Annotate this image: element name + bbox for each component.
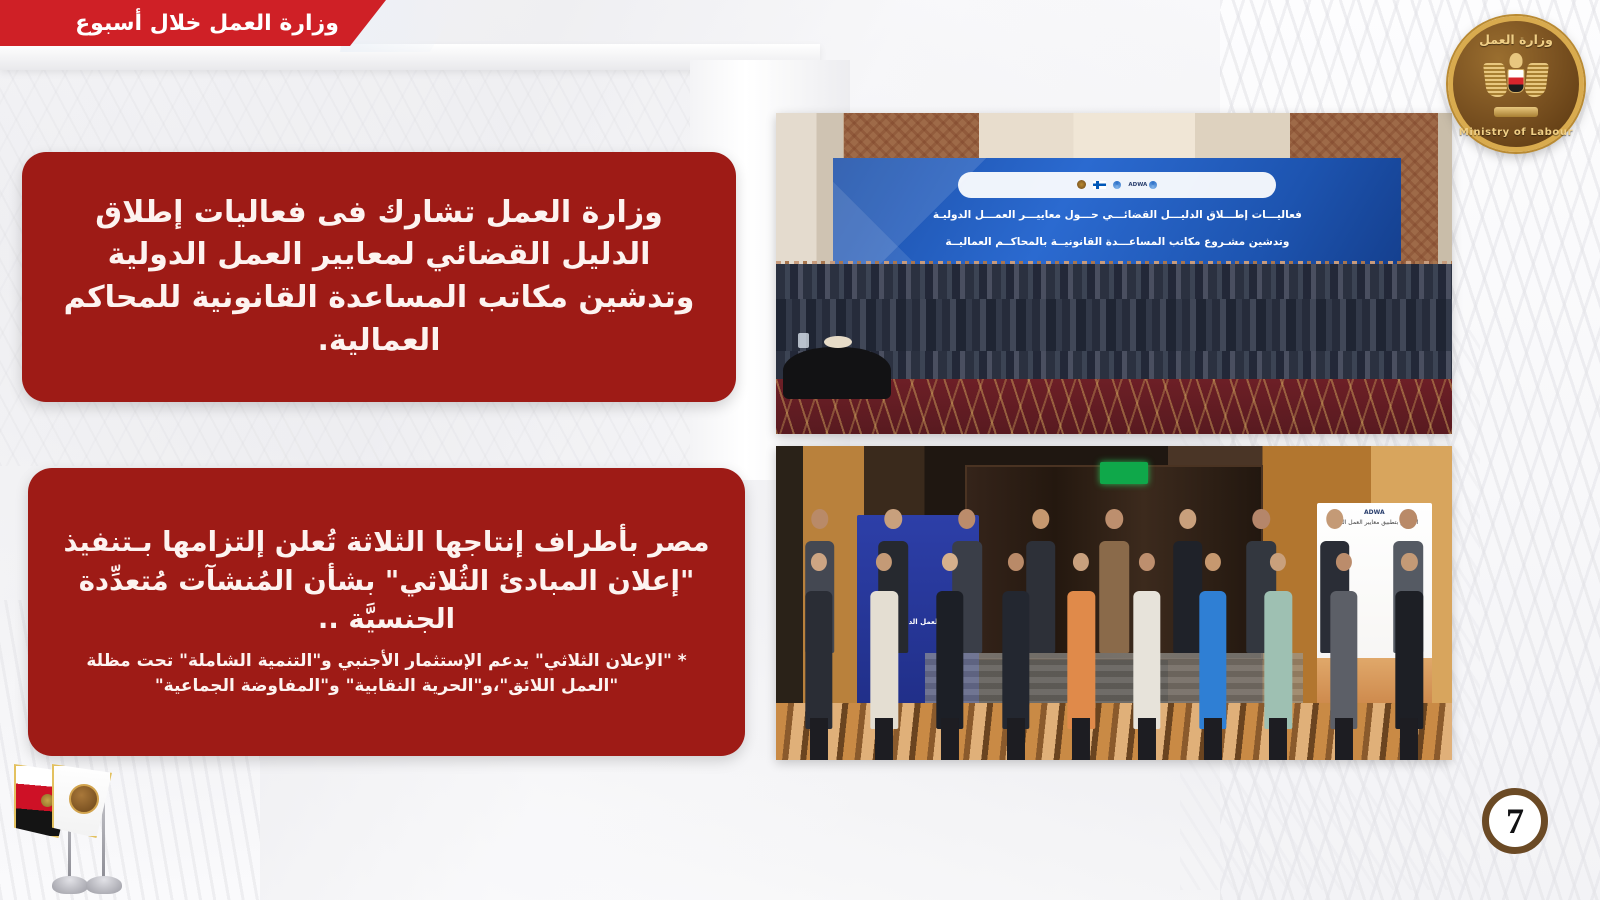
seal-arabic-text: وزارة العمل: [1453, 32, 1579, 47]
person-figure: [869, 553, 900, 729]
finland-flag-icon: [1093, 181, 1106, 189]
secondary-headline-card: مصر بأطراف إنتاجها الثلاثة تُعلن إلتزامه…: [28, 468, 745, 756]
photo-delegation-group: منظمة العمل الدولية ADWA النهوض بتطبيق م…: [776, 446, 1452, 760]
eagle-of-saladin-icon: [1485, 53, 1547, 115]
header-banner: وزارة العمل خلال أسبوع: [0, 0, 386, 46]
ilo-logo-icon: [1113, 181, 1121, 189]
eagle-shield-flag: [1508, 69, 1525, 93]
ministry-seal-logo: وزارة العمل Ministry of Labour: [1448, 16, 1584, 152]
flag-stand-base: [86, 876, 122, 894]
slide-root: وزارة العمل خلال أسبوع وزارة العمل Minis…: [0, 0, 1600, 900]
person-figure: [1066, 553, 1097, 729]
person-figure: [1394, 553, 1425, 729]
flag-stand-base: [52, 876, 88, 894]
main-headline-card: وزارة العمل تشارك فى فعاليات إطلاق الدلي…: [22, 152, 736, 402]
seal-english-text: Ministry of Labour: [1453, 127, 1579, 138]
eagle-left-wing: [1483, 63, 1508, 97]
eagle-right-wing: [1524, 63, 1549, 97]
exit-sign-icon: [1100, 462, 1147, 484]
person-figure: [1000, 553, 1031, 729]
eagle-head: [1510, 53, 1523, 68]
desk-flags: [26, 746, 146, 894]
person-figure: [803, 553, 834, 729]
person-figure: [1131, 553, 1162, 729]
photo-people-front-row: [803, 553, 1425, 729]
photo-logo-strip: ADWA: [958, 172, 1276, 198]
header-banner-text: وزارة العمل خلال أسبوع: [75, 11, 339, 36]
secondary-footnote-text: * "الإعلان الثلاثي" يدعم الإستثمار الأجن…: [58, 649, 715, 699]
main-headline-text: وزارة العمل تشارك فى فعاليات إطلاق الدلي…: [58, 192, 700, 362]
photo-conference-group: ADWA فعاليـــات إطـــلاق الدليـــل القضا…: [776, 113, 1452, 434]
page-number-text: 7: [1506, 803, 1524, 839]
person-figure: [1328, 553, 1359, 729]
photo-backdrop-line-2: وتدشين مشـروع مكاتب المساعـــدة القانوني…: [868, 236, 1368, 248]
photo-draped-table: [783, 347, 891, 398]
ministry-seal-mini-icon: [1077, 180, 1086, 189]
eagle-scroll: [1494, 107, 1538, 117]
photo-backdrop-line-1: فعاليـــات إطـــلاق الدليـــل القضائـــي…: [868, 209, 1368, 221]
photo-crowd-row-front: [776, 299, 1452, 350]
person-figure: [934, 553, 965, 729]
secondary-headline-text: مصر بأطراف إنتاجها الثلاثة تُعلن إلتزامه…: [58, 523, 715, 639]
person-figure: [1263, 553, 1294, 729]
person-figure: [1197, 553, 1228, 729]
adwa-logo-icon: ADWA: [1128, 181, 1157, 189]
page-number-badge: 7: [1482, 788, 1548, 854]
